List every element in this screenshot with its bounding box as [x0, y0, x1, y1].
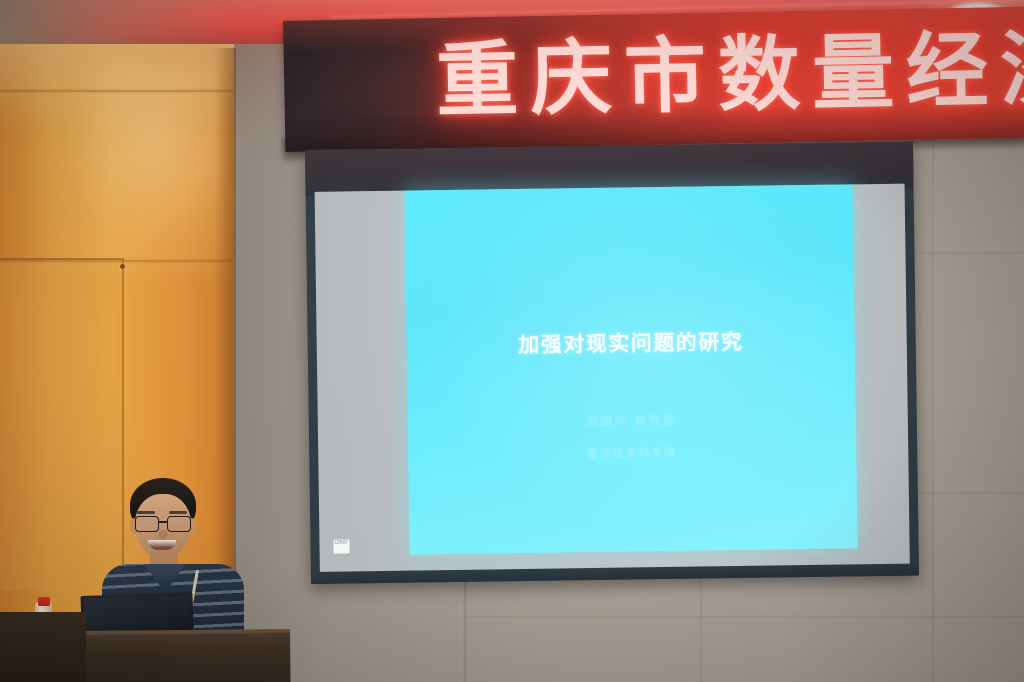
led-banner-text: 重庆市数量经济学 [435, 20, 1024, 130]
led-banner: 重庆市数量经济学 [283, 7, 1024, 152]
lectern-front-panel [0, 612, 86, 682]
presenter-glasses-icon [134, 516, 192, 531]
water-bottle-cap [38, 597, 50, 606]
screen-surface: LOGO 加强对现实问题的研究 刘国川 研究员 重庆社会科学院 [315, 184, 910, 574]
presenter-eyebrow-right [169, 511, 187, 514]
presenter-nose [158, 530, 168, 539]
screen-brand-logo: LOGO [333, 539, 349, 553]
conference-photo-scene: 重庆市数量经济学 LOGO 加强对现实问题的研究 刘国川 研究员 重庆社会科学院 [0, 0, 1024, 682]
laptop-lid [84, 595, 191, 635]
wall-door-outline [0, 258, 124, 590]
projection-screen: LOGO 加强对现实问题的研究 刘国川 研究员 重庆社会科学院 [305, 142, 919, 584]
door-knob-icon [120, 264, 125, 269]
projected-slide: 加强对现实问题的研究 刘国川 研究员 重庆社会科学院 [405, 184, 858, 554]
presenter-eyebrow-left [137, 511, 155, 514]
slide-title: 加强对现实问题的研究 [407, 324, 855, 360]
